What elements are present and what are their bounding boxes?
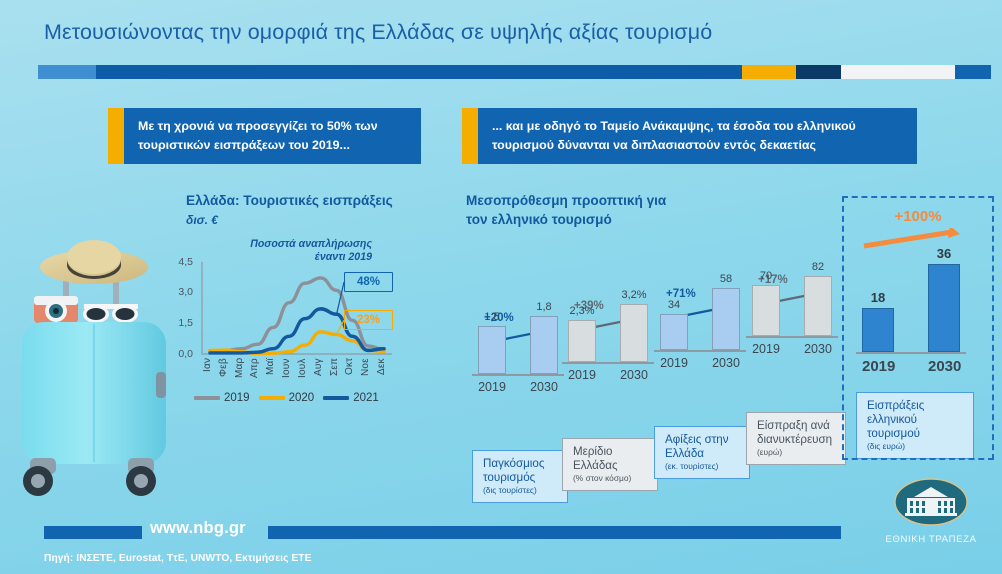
bar-value-label: 34 [668,299,680,311]
caption-title: Είσπραξη ανά διανυκτέρευση [757,419,837,447]
legend-swatch [259,396,285,400]
callout-box-right: ... και με οδηγό το Ταμείο Ανάκαμψης, τα… [462,108,917,164]
accent-bar-segment [841,65,955,79]
caption-units: (δις τουρίστες) [483,485,559,495]
callout-right-text: ... και με οδηγό το Ταμείο Ανάκαμψης, τα… [478,108,917,164]
callout-accent-tab [108,108,124,164]
bar-x-labels: 20192030 [752,342,832,356]
caption-units: (% στον κόσμο) [573,473,649,483]
legend-item-2019: 2019 [194,392,250,404]
bar-x-label: 2030 [530,380,558,394]
highlight-box-greek-receipts: +100% [842,196,994,460]
bar-pair: 3458 [660,268,740,350]
bank-name: ΕΘΝΙΚΗ ΤΡΑΠΕΖΑ [878,534,984,545]
bar-column: 82 [804,261,832,336]
bar-pair: 2,3%3,2% [568,284,648,362]
line-chart: Ποσοστά αναπλήρωσης έναντι 2019 4,5 3,0 … [168,240,400,415]
bar-x-label: 2030 [712,356,740,370]
bar [712,288,740,350]
bar-x-labels: 20192030 [568,368,648,382]
footer-bar-right [268,526,841,539]
accent-bar-segment [742,65,796,79]
footer-url[interactable]: www.nbg.gr [150,519,246,538]
legend-label: 2020 [289,392,315,404]
caption-units: (ευρώ) [757,447,837,457]
bar [620,304,648,362]
accent-bar-segment [955,65,991,79]
legend-swatch [323,396,349,400]
legend-label: 2019 [224,392,250,404]
line-chart-subtitle: δισ. € [186,212,218,229]
infographic-canvas: Μετουσιώνοντας την ομορφιά της Ελλάδας σ… [0,0,1002,574]
line-chart-plot [168,240,400,368]
header-accent-bar [38,65,991,79]
bar-column: 2,3% [568,305,596,362]
badge-2020-replacement: 23% [344,310,393,330]
source-note: Πηγή: ΙΝΣΕΤΕ, Eurostat, ΤτΕ, UNWTO, Εκτι… [44,553,312,564]
caption-units: (εκ. τουρίστες) [665,461,741,471]
legend-item-2020: 2020 [259,392,315,404]
bar-column: 70 [752,270,780,336]
bar [568,320,596,362]
bars-section-title: Μεσοπρόθεσμη προοπτική γιατον ελληνικό τ… [466,192,666,230]
bar-x-label: 2030 [804,342,832,356]
caption-ribbon: Μερίδιο Ελλάδας (% στον κόσμο) [562,438,658,491]
accent-bar-segment [38,65,96,79]
suitcase-illustration [8,232,180,500]
page-title: Μετουσιώνοντας την ομορφιά της Ελλάδας σ… [44,20,712,45]
callout-left-text: Με τη χρονιά να προσεγγίζει το 50% των τ… [124,108,421,164]
bar-column: 1,5 [478,311,506,374]
bar [752,285,780,336]
caption-face: Μερίδιο Ελλάδας (% στον κόσμο) [562,438,658,491]
line-chart-title: Ελλάδα: Τουριστικές εισπράξεις [186,192,393,211]
legend-item-2021: 2021 [323,392,379,404]
bar-value-label: 1,8 [536,301,551,313]
badge-2021-replacement: 48% [344,272,393,292]
bar-value-label: 2,3% [569,305,594,317]
caption-face: Παγκόσμιος τουρισμός (δις τουρίστες) [472,450,568,503]
bar-x-label: 2019 [478,380,506,394]
bar-column: 34 [660,299,688,350]
bar-x-label: 2019 [752,342,780,356]
bar-value-label: 1,5 [484,311,499,323]
bar [804,276,832,336]
bar-x-label: 2019 [660,356,688,370]
caption-ribbon: Παγκόσμιος τουρισμός (δις τουρίστες) [472,450,568,503]
callout-accent-tab [462,108,478,164]
caption-face: Αφίξεις στην Ελλάδα (εκ. τουρίστες) [654,426,750,479]
bar-x-label: 2019 [568,368,596,382]
line-chart-legend: 201920202021 [194,392,379,404]
bar-value-label: 82 [812,261,824,273]
bar-column: 3,2% [620,289,648,362]
bars-section-title-line: Μεσοπρόθεσμη προοπτική για [466,192,666,211]
bar-value-label: 70 [760,270,772,282]
caption-face: Είσπραξη ανά διανυκτέρευση (ευρώ) [746,412,846,465]
bar-baseline [562,362,654,364]
accent-bar-segment [796,65,841,79]
bank-building-icon [894,478,968,526]
nbg-logo: ΕΘΝΙΚΗ ΤΡΑΠΕΖΑ [878,478,984,545]
caption-ribbon: Αφίξεις στην Ελλάδα (εκ. τουρίστες) [654,426,750,479]
highlight-growth-label: +100% [844,208,992,225]
legend-label: 2021 [353,392,379,404]
bar-x-labels: 20192030 [660,356,740,370]
caption-title: Παγκόσμιος τουρισμός [483,457,559,485]
legend-swatch [194,396,220,400]
bar-value-label: 58 [720,273,732,285]
bar [660,314,688,350]
bar-x-labels: 20192030 [478,380,558,394]
bar-x-label: 2030 [620,368,648,382]
bar-baseline [472,374,564,376]
caption-title: Αφίξεις στην Ελλάδα [665,433,741,461]
bar-pair: 1,51,8 [478,296,558,374]
bar [530,316,558,374]
bar-column: 1,8 [530,301,558,374]
footer-bar-left [44,526,142,539]
bar [478,326,506,374]
bar-baseline [746,336,838,338]
bar-column: 58 [712,273,740,350]
callout-box-left: Με τη χρονιά να προσεγγίζει το 50% των τ… [108,108,421,164]
bar-baseline [654,350,746,352]
caption-ribbon: Είσπραξη ανά διανυκτέρευση (ευρώ) [746,412,846,465]
bar-value-label: 3,2% [621,289,646,301]
badge-leader-line [337,320,344,335]
caption-title: Μερίδιο Ελλάδας [573,445,649,473]
bar-pair: 7082 [752,256,832,336]
bars-section-title-line: τον ελληνικό τουρισμό [466,211,666,230]
accent-bar-segment [96,65,742,79]
